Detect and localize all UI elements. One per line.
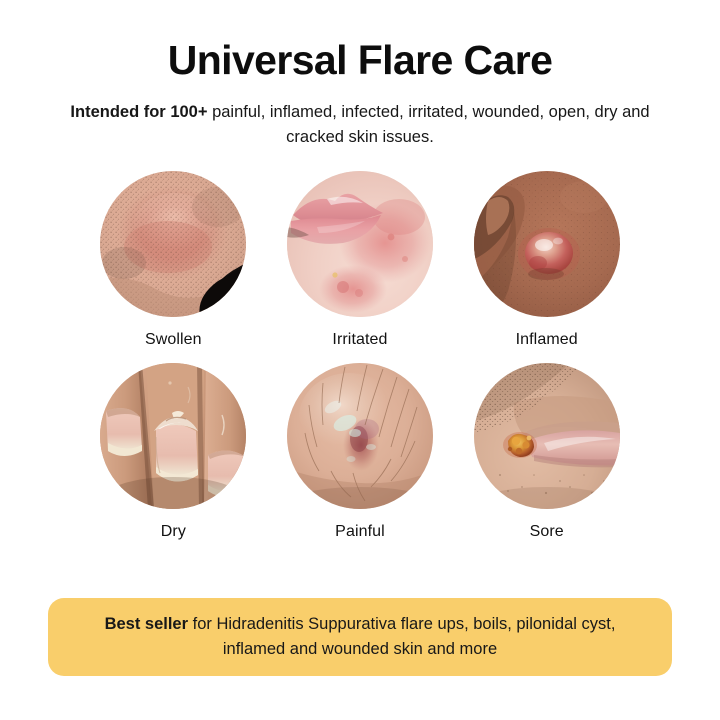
condition-cell-irritated[interactable]: Irritated [267,171,454,349]
photo-sore-scab-at-lip-corner [474,363,620,509]
condition-label: Sore [530,523,564,541]
condition-label: Dry [161,523,186,541]
condition-cell-swollen[interactable]: Swollen [80,171,267,349]
condition-cell-inflamed[interactable]: Inflamed [453,171,640,349]
condition-cell-dry[interactable]: Dry [80,363,267,541]
condition-label: Inflamed [516,331,578,349]
best-seller-banner: Best seller for Hidradenitis Suppurativa… [48,598,672,676]
condition-grid: Swollen [80,171,640,541]
page-title: Universal Flare Care [0,38,720,84]
page-subtitle: Intended for 100+ painful, inflamed, inf… [60,100,660,150]
condition-label: Irritated [332,331,387,349]
condition-cell-painful[interactable]: Painful [267,363,454,541]
flare-care-infographic: Universal Flare Care Intended for 100+ p… [0,0,720,720]
photo-painful-lesion-under-skin [287,363,433,509]
photo-irritated-skin-around-lips [287,171,433,317]
condition-cell-sore[interactable]: Sore [453,363,640,541]
banner-rest: for Hidradenitis Suppurativa flare ups, … [188,615,615,658]
banner-text: Best seller for Hidradenitis Suppurativa… [74,612,646,662]
photo-swollen-cheek-stubble [100,171,246,317]
subtitle-rest: painful, inflamed, infected, irritated, … [207,103,649,146]
condition-label: Swollen [145,331,202,349]
photo-inflamed-nodule-neck [474,171,620,317]
condition-label: Painful [335,523,385,541]
subtitle-lead: Intended for 100+ [70,103,207,121]
banner-lead: Best seller [105,615,188,633]
header: Universal Flare Care Intended for 100+ p… [0,0,720,149]
photo-dry-cracked-cuticles-fingers [100,363,246,509]
